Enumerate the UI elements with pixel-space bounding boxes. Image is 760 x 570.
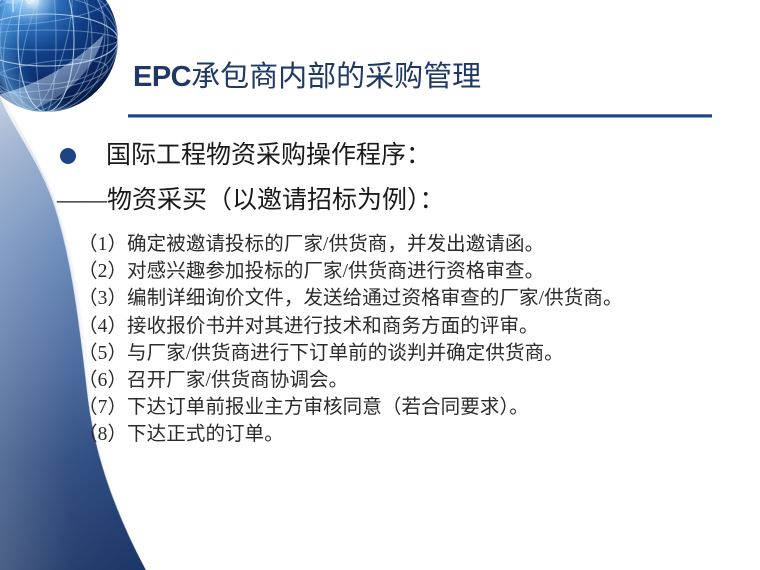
bullet-dot-icon <box>60 148 76 164</box>
list-item: （2）对感兴趣参加投标的厂家/供货商进行资格审查。 <box>78 258 748 285</box>
globe-graphic <box>0 0 130 130</box>
title-divider <box>128 114 712 118</box>
slide: EPC承包商内部的采购管理 国际工程物资采购操作程序： ——物资采买（以邀请招标… <box>0 0 760 570</box>
title-prefix: EPC <box>133 61 191 93</box>
list-item: （7）下达订单前报业主方审核同意（若合同要求）。 <box>78 394 748 421</box>
list-item: （3）编制详细询价文件，发送给通过资格审查的厂家/供货商。 <box>78 285 748 312</box>
steps-list: （1）确定被邀请投标的厂家/供货商，并发出邀请函。 （2）对感兴趣参加投标的厂家… <box>78 231 748 449</box>
level1-bullet-item: 国际工程物资采购操作程序： <box>60 140 740 172</box>
list-item: （8）下达正式的订单。 <box>78 421 748 448</box>
list-item: （6）召开厂家/供货商协调会。 <box>78 367 748 394</box>
globe-wireframe-icon <box>0 0 130 130</box>
level1-text: 国际工程物资采购操作程序： <box>106 140 431 172</box>
list-item: （4）接收报价书并对其进行技术和商务方面的评审。 <box>78 313 748 340</box>
globe-outer-glow <box>0 0 130 130</box>
list-item: （5）与厂家/供货商进行下订单前的谈判并确定供货商。 <box>78 340 748 367</box>
list-item: （1）确定被邀请投标的厂家/供货商，并发出邀请函。 <box>78 231 748 258</box>
level2-text: ——物资采买（以邀请招标为例）： <box>57 185 747 217</box>
page-title: EPC承包商内部的采购管理 <box>133 58 733 96</box>
globe-highlight-icon <box>0 0 38 12</box>
title-rest: 承包商内部的采购管理 <box>191 61 481 93</box>
